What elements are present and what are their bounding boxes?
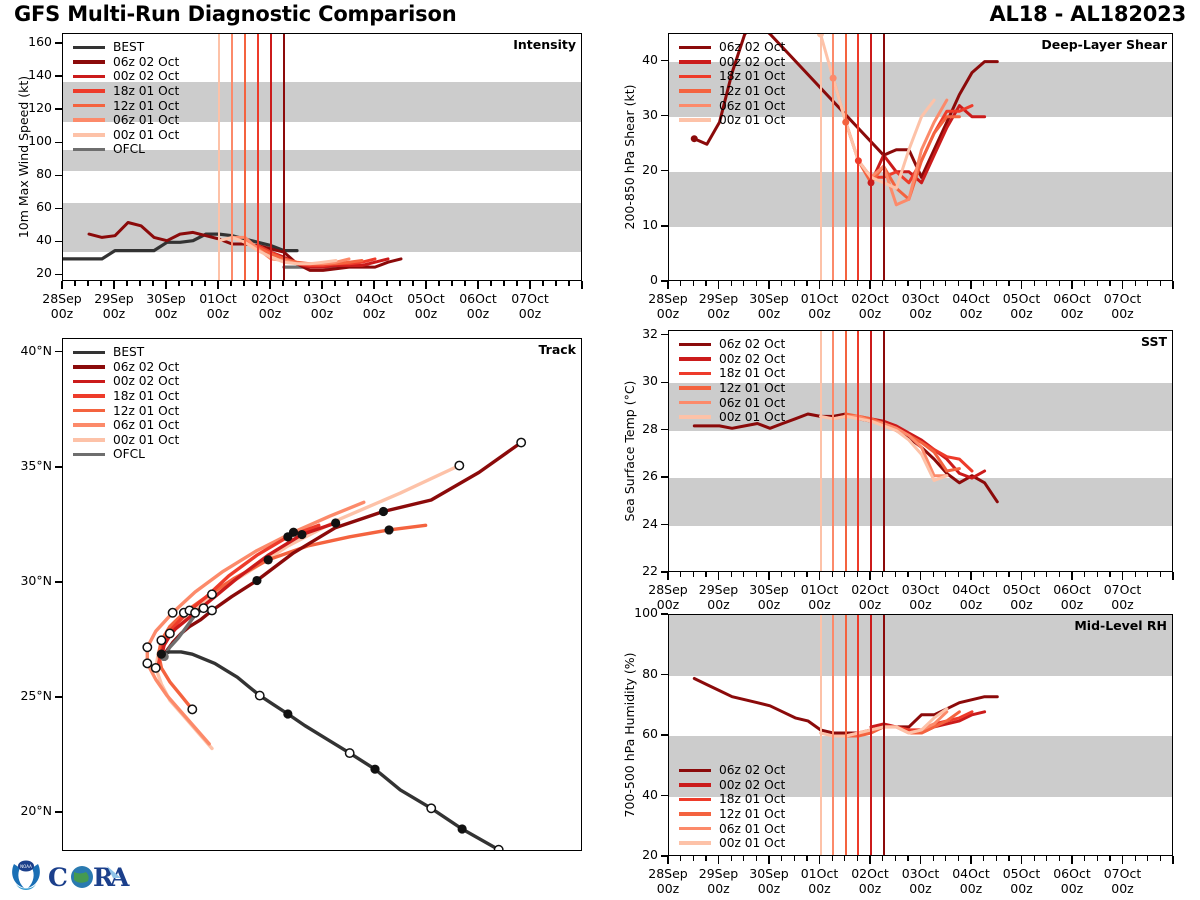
track-marker-filled xyxy=(379,507,388,516)
panel-intensity: BEST06z 02 Oct00z 02 Oct18z 01 Oct12z 01… xyxy=(62,33,582,281)
legend-row: 18z 01 Oct xyxy=(679,366,785,381)
y-tickmark xyxy=(661,382,668,383)
x-tickmark xyxy=(907,572,908,577)
legend-row: 00z 02 Oct xyxy=(679,55,785,70)
x-tickmark xyxy=(718,572,719,580)
legend-swatch-06z-01-oct xyxy=(679,827,711,831)
legend-swatch-06z-02-oct xyxy=(73,365,105,369)
x-tickmark xyxy=(1084,572,1085,577)
plot-title-rh: Mid-Level RH xyxy=(1074,618,1167,633)
init-line-06z-01-oct xyxy=(832,34,834,280)
x-tickmark xyxy=(1135,856,1136,861)
x-tickmark xyxy=(1109,281,1110,286)
x-tickmark xyxy=(1071,572,1072,580)
legend-row: 06z 02 Oct xyxy=(679,337,785,352)
init-line-18z-01-oct xyxy=(857,331,859,571)
legend-row: 06z 02 Oct xyxy=(679,763,785,778)
x-tickmark xyxy=(126,281,127,286)
x-tickmark xyxy=(347,281,348,286)
plot-title-intensity: Intensity xyxy=(513,37,576,52)
y-tickmark xyxy=(55,241,62,242)
legend-swatch-best xyxy=(73,46,105,50)
x-tickmark xyxy=(1008,572,1009,577)
x-tickmark xyxy=(1122,572,1123,580)
x-tickmark xyxy=(945,572,946,577)
legend-label: 12z 01 Oct xyxy=(719,807,785,821)
legend-row: 00z 02 Oct xyxy=(679,778,785,793)
x-tickmark xyxy=(1059,572,1060,577)
plot-title-sst: SST xyxy=(1141,334,1167,349)
track-marker-filled xyxy=(252,576,261,585)
x-tickmark xyxy=(680,856,681,861)
storm-id-title: AL18 - AL182023 xyxy=(989,2,1186,26)
plot-legend: BEST06z 02 Oct00z 02 Oct18z 01 Oct12z 01… xyxy=(73,345,179,462)
y-tick-label: 22 xyxy=(606,563,658,578)
legend-swatch-06z-01-oct xyxy=(73,118,105,122)
init-line-00z-02-oct xyxy=(870,615,872,855)
x-tickmark xyxy=(321,281,322,289)
noaa-cira-logo: NOAA C R A xyxy=(8,856,138,896)
plot-legend: 06z 02 Oct00z 02 Oct18z 01 Oct12z 01 Oct… xyxy=(679,763,785,851)
x-tickmark xyxy=(1059,856,1060,861)
y-axis-label: 700-500 hPa Humidity (%) xyxy=(622,652,637,817)
x-tick-day: 07Oct xyxy=(1083,292,1163,307)
x-tickmark xyxy=(781,281,782,286)
legend-swatch-00z-01-oct xyxy=(679,841,711,845)
y-tick-label: 32 xyxy=(606,326,658,341)
x-tickmark xyxy=(1147,281,1148,286)
legend-row: 12z 01 Oct xyxy=(679,381,785,396)
init-line-18z-01-oct xyxy=(857,615,859,855)
x-tickmark xyxy=(731,281,732,286)
y-tickmark xyxy=(661,795,668,796)
x-tickmark xyxy=(1097,856,1098,861)
y-tickmark xyxy=(55,175,62,176)
y-tickmark xyxy=(661,734,668,735)
legend-label: 06z 01 Oct xyxy=(113,113,179,127)
legend-label: 06z 01 Oct xyxy=(719,99,785,113)
x-tickmark xyxy=(983,856,984,861)
init-line-12z-01-oct xyxy=(244,34,246,280)
svg-text:C: C xyxy=(48,863,68,892)
legend-label: 12z 01 Oct xyxy=(113,404,179,418)
y-tick-label: 40°N xyxy=(0,343,52,358)
x-tickmark xyxy=(152,281,153,286)
x-tickmark xyxy=(542,281,543,286)
y-tick-label: 20°N xyxy=(0,803,52,818)
legend-swatch-06z-02-oct xyxy=(679,343,711,347)
legend-label: 00z 02 Oct xyxy=(719,778,785,792)
init-line-00z-02-oct xyxy=(270,34,272,280)
x-tickmark xyxy=(373,281,374,289)
x-tickmark xyxy=(806,281,807,286)
x-tickmark xyxy=(869,281,870,289)
x-tickmark xyxy=(667,281,668,289)
x-tickmark xyxy=(718,281,719,289)
init-line-00z-01-oct xyxy=(820,331,822,571)
x-tickmark xyxy=(996,572,997,577)
x-tickmark xyxy=(1172,856,1173,864)
x-tickmark xyxy=(794,281,795,286)
x-tickmark xyxy=(113,281,114,289)
y-tick-label: 40 xyxy=(606,52,658,67)
x-tickmark xyxy=(832,572,833,577)
x-tickmark xyxy=(1008,281,1009,286)
x-tickmark xyxy=(996,281,997,286)
y-tick-label: 35°N xyxy=(0,458,52,473)
init-line-06z-02-oct xyxy=(883,331,885,571)
legend-label: 06z 01 Oct xyxy=(719,822,785,836)
legend-label: 00z 01 Oct xyxy=(113,433,179,447)
x-tickmark xyxy=(1147,856,1148,861)
track-line-best xyxy=(161,652,498,850)
legend-label: 18z 01 Oct xyxy=(719,792,785,806)
legend-swatch-18z-01-oct xyxy=(73,394,105,398)
legend-row: 06z 01 Oct xyxy=(73,113,179,128)
legend-row: 00z 01 Oct xyxy=(73,128,179,143)
x-tickmark xyxy=(970,281,971,289)
legend-row: OFCL xyxy=(73,447,179,462)
x-tickmark xyxy=(756,281,757,286)
x-tickmark xyxy=(806,856,807,861)
x-tickmark xyxy=(832,856,833,861)
y-tickmark xyxy=(661,115,668,116)
x-tickmark xyxy=(882,281,883,286)
legend-row: 06z 01 Oct xyxy=(679,395,785,410)
x-tickmark xyxy=(1071,856,1072,864)
x-tickmark xyxy=(477,281,478,289)
x-tickmark xyxy=(334,281,335,286)
x-tickmark xyxy=(438,281,439,286)
x-tickmark xyxy=(1008,856,1009,861)
x-tickmark xyxy=(933,572,934,577)
x-tickmark xyxy=(895,281,896,286)
legend-label: 00z 02 Oct xyxy=(719,55,785,69)
x-tickmark xyxy=(794,572,795,577)
init-line-00z-01-oct xyxy=(820,34,822,280)
x-tickmark xyxy=(819,281,820,289)
track-marker-open xyxy=(143,659,151,667)
legend-label: BEST xyxy=(113,345,144,359)
legend-label: OFCL xyxy=(113,447,145,461)
legend-row: 00z 01 Oct xyxy=(73,433,179,448)
init-line-12z-01-oct xyxy=(845,34,847,280)
y-tickmark xyxy=(55,75,62,76)
y-tickmark xyxy=(661,524,668,525)
x-tickmark xyxy=(996,856,997,861)
x-tick-hour: 00z xyxy=(490,307,570,322)
x-tickmark xyxy=(718,856,719,864)
track-marker-filled xyxy=(283,709,292,718)
legend-swatch-06z-01-oct xyxy=(679,104,711,108)
y-tick-label: 30°N xyxy=(0,573,52,588)
x-tickmark xyxy=(983,572,984,577)
legend-swatch-18z-01-oct xyxy=(679,372,711,376)
legend-swatch-18z-01-oct xyxy=(73,89,105,93)
x-tickmark xyxy=(680,572,681,577)
x-tickmark xyxy=(243,281,244,286)
y-tickmark xyxy=(55,142,62,143)
legend-label: 12z 01 Oct xyxy=(719,381,785,395)
x-tickmark xyxy=(1046,856,1047,861)
y-tickmark xyxy=(661,170,668,171)
x-tickmark xyxy=(819,572,820,580)
y-tickmark xyxy=(661,334,668,335)
x-tick-hour: 00z xyxy=(1083,882,1163,897)
track-marker-filled xyxy=(384,525,393,534)
x-tickmark xyxy=(970,856,971,864)
x-tickmark xyxy=(806,572,807,577)
legend-swatch-12z-01-oct xyxy=(679,812,711,816)
legend-row: 06z 02 Oct xyxy=(73,360,179,375)
x-tickmark xyxy=(399,281,400,286)
y-tickmark xyxy=(55,466,62,467)
x-tickmark xyxy=(1135,572,1136,577)
legend-row: 06z 02 Oct xyxy=(73,55,179,70)
legend-label: OFCL xyxy=(113,142,145,156)
legend-label: 00z 02 Oct xyxy=(719,352,785,366)
legend-swatch-18z-01-oct xyxy=(679,798,711,802)
plot-frame-sst: 06z 02 Oct00z 02 Oct18z 01 Oct12z 01 Oct… xyxy=(668,330,1173,572)
y-tick-label: 20 xyxy=(0,265,52,280)
x-tickmark xyxy=(139,281,140,286)
legend-swatch-00z-02-oct xyxy=(73,75,105,79)
legend-swatch-12z-01-oct xyxy=(73,104,105,108)
init-line-00z-01-oct xyxy=(820,615,822,855)
init-line-06z-01-oct xyxy=(231,34,233,280)
plot-frame-track: BEST06z 02 Oct00z 02 Oct18z 01 Oct12z 01… xyxy=(62,338,582,851)
legend-swatch-06z-02-oct xyxy=(679,769,711,773)
legend-row: 12z 01 Oct xyxy=(73,403,179,418)
legend-swatch-06z-01-oct xyxy=(73,423,105,427)
init-line-12z-01-oct xyxy=(845,615,847,855)
init-line-18z-01-oct xyxy=(857,34,859,280)
legend-row: BEST xyxy=(73,345,179,360)
y-tickmark xyxy=(55,351,62,352)
legend-label: 00z 01 Oct xyxy=(719,836,785,850)
panel-shear: 06z 02 Oct00z 02 Oct18z 01 Oct12z 01 Oct… xyxy=(668,33,1173,281)
legend-row: OFCL xyxy=(73,142,179,157)
legend-row: 00z 02 Oct xyxy=(679,352,785,367)
x-tickmark xyxy=(1097,572,1098,577)
legend-label: 12z 01 Oct xyxy=(113,99,179,113)
x-tickmark xyxy=(844,281,845,286)
x-tickmark xyxy=(1122,856,1123,864)
legend-row: 06z 01 Oct xyxy=(73,418,179,433)
x-tickmark xyxy=(360,281,361,286)
x-tickmark xyxy=(308,281,309,286)
y-axis-label: 200-850 hPa Shear (kt) xyxy=(622,85,637,230)
plot-legend: 06z 02 Oct00z 02 Oct18z 01 Oct12z 01 Oct… xyxy=(679,40,785,128)
init-line-06z-02-oct xyxy=(283,34,285,280)
x-tick-day: 07Oct xyxy=(1083,867,1163,882)
track-marker-open xyxy=(152,664,160,672)
y-tick-label: 160 xyxy=(0,34,52,49)
x-tickmark xyxy=(844,856,845,861)
track-marker-open xyxy=(191,609,199,617)
x-tick-day: 07Oct xyxy=(490,292,570,307)
x-tickmark xyxy=(857,856,858,861)
y-tickmark xyxy=(661,674,668,675)
x-tickmark xyxy=(256,281,257,286)
legend-label: 06z 02 Oct xyxy=(719,40,785,54)
x-tickmark xyxy=(920,572,921,580)
x-tickmark xyxy=(920,856,921,864)
x-tickmark xyxy=(191,281,192,286)
plot-frame-rh: 06z 02 Oct00z 02 Oct18z 01 Oct12z 01 Oct… xyxy=(668,614,1173,856)
panel-rh: 06z 02 Oct00z 02 Oct18z 01 Oct12z 01 Oct… xyxy=(668,614,1173,856)
x-tickmark xyxy=(178,281,179,286)
legend-label: 06z 01 Oct xyxy=(719,396,785,410)
y-tickmark xyxy=(55,274,62,275)
init-line-00z-02-oct xyxy=(870,34,872,280)
init-line-06z-02-oct xyxy=(883,34,885,280)
x-tick-label: 07Oct00z xyxy=(490,292,570,322)
legend-swatch-00z-02-oct xyxy=(73,380,105,384)
x-tickmark xyxy=(705,281,706,286)
x-tickmark xyxy=(693,856,694,861)
legend-label: 00z 02 Oct xyxy=(113,69,179,83)
x-tickmark xyxy=(1071,281,1072,289)
legend-swatch-00z-01-oct xyxy=(679,118,711,122)
legend-row: 00z 01 Oct xyxy=(679,836,785,851)
x-tickmark xyxy=(667,572,668,580)
x-tickmark xyxy=(869,856,870,864)
x-tickmark xyxy=(282,281,283,286)
legend-label: 18z 01 Oct xyxy=(113,389,179,403)
legend-row: BEST xyxy=(73,40,179,55)
noaa-logo-icon: NOAA xyxy=(12,861,40,891)
x-tickmark xyxy=(945,856,946,861)
x-tickmark xyxy=(781,856,782,861)
x-tickmark xyxy=(743,856,744,861)
legend-row: 00z 01 Oct xyxy=(679,113,785,128)
legend-swatch-best xyxy=(73,351,105,355)
track-marker-filled xyxy=(370,765,379,774)
x-tickmark xyxy=(743,572,744,577)
legend-row: 18z 01 Oct xyxy=(679,792,785,807)
svg-text:NOAA: NOAA xyxy=(20,864,32,869)
series-marker xyxy=(691,135,698,142)
legend-row: 00z 02 Oct xyxy=(73,69,179,84)
y-tickmark xyxy=(55,811,62,812)
x-tick-label: 07Oct00z xyxy=(1083,292,1163,322)
track-marker-open xyxy=(168,609,176,617)
panel-sst: 06z 02 Oct00z 02 Oct18z 01 Oct12z 01 Oct… xyxy=(668,330,1173,572)
y-tickmark xyxy=(661,225,668,226)
track-marker-filled xyxy=(297,530,306,539)
x-tickmark xyxy=(920,281,921,289)
legend-swatch-00z-01-oct xyxy=(679,415,711,419)
track-marker-filled xyxy=(283,532,292,541)
diagnostic-figure: GFS Multi-Run Diagnostic Comparison AL18… xyxy=(0,0,1200,900)
legend-row: 00z 02 Oct xyxy=(73,374,179,389)
x-tickmark xyxy=(869,572,870,580)
x-tickmark xyxy=(1021,281,1022,289)
x-tickmark xyxy=(1160,856,1161,861)
page-title: GFS Multi-Run Diagnostic Comparison xyxy=(14,2,456,26)
legend-label: 00z 01 Oct xyxy=(719,410,785,424)
x-tick-day: 07Oct xyxy=(1083,583,1163,598)
x-tick-label: 07Oct00z xyxy=(1083,583,1163,613)
init-line-06z-01-oct xyxy=(832,615,834,855)
x-tickmark xyxy=(768,281,769,289)
init-line-06z-02-oct xyxy=(883,615,885,855)
legend-swatch-00z-02-oct xyxy=(679,783,711,787)
init-line-00z-02-oct xyxy=(870,331,872,571)
series-line-12z-01-oct xyxy=(846,414,960,471)
plot-title-shear: Deep-Layer Shear xyxy=(1041,37,1167,52)
x-tickmark xyxy=(756,856,757,861)
x-tickmark xyxy=(1109,572,1110,577)
x-tickmark xyxy=(165,281,166,289)
x-tickmark xyxy=(768,572,769,580)
y-tickmark xyxy=(55,42,62,43)
x-tickmark xyxy=(61,281,62,289)
legend-label: 18z 01 Oct xyxy=(719,69,785,83)
legend-label: 06z 02 Oct xyxy=(719,763,785,777)
x-tickmark xyxy=(970,572,971,580)
track-marker-open xyxy=(208,590,216,598)
track-marker-open xyxy=(166,629,174,637)
x-tickmark xyxy=(1084,856,1085,861)
track-marker-open xyxy=(256,691,264,699)
track-marker-open xyxy=(208,606,216,614)
y-tickmark xyxy=(661,429,668,430)
x-tickmark xyxy=(1021,572,1022,580)
x-tickmark xyxy=(1084,281,1085,286)
legend-swatch-12z-01-oct xyxy=(679,386,711,390)
x-tickmark xyxy=(731,572,732,577)
x-tickmark xyxy=(1172,281,1173,289)
x-tickmark xyxy=(743,281,744,286)
x-tickmark xyxy=(490,281,491,286)
legend-swatch-12z-01-oct xyxy=(73,409,105,413)
x-tickmark xyxy=(464,281,465,286)
track-marker-open xyxy=(157,636,165,644)
legend-row: 06z 02 Oct xyxy=(679,40,785,55)
legend-swatch-06z-02-oct xyxy=(73,60,105,64)
x-tickmark xyxy=(425,281,426,289)
track-marker-open xyxy=(188,705,196,713)
plot-frame-shear: 06z 02 Oct00z 02 Oct18z 01 Oct12z 01 Oct… xyxy=(668,33,1173,281)
x-tickmark xyxy=(768,856,769,864)
x-tickmark xyxy=(693,572,694,577)
x-tickmark xyxy=(451,281,452,286)
y-tickmark xyxy=(661,60,668,61)
legend-label: 18z 01 Oct xyxy=(113,84,179,98)
y-tickmark xyxy=(661,476,668,477)
x-tickmark xyxy=(857,281,858,286)
init-line-18z-01-oct xyxy=(257,34,259,280)
x-tick-hour: 00z xyxy=(1083,598,1163,613)
x-tickmark xyxy=(693,281,694,286)
track-marker-open xyxy=(455,461,463,469)
track-marker-open xyxy=(427,804,435,812)
x-tickmark xyxy=(1160,281,1161,286)
y-tick-label: 20 xyxy=(606,847,658,862)
x-tickmark xyxy=(844,572,845,577)
legend-row: 00z 01 Oct xyxy=(679,410,785,425)
x-tickmark xyxy=(1109,856,1110,861)
legend-label: 06z 02 Oct xyxy=(113,360,179,374)
y-tick-label: 100 xyxy=(606,605,658,620)
legend-swatch-00z-02-oct xyxy=(679,60,711,64)
y-axis-label: Sea Surface Temp (°C) xyxy=(622,381,637,522)
x-tickmark xyxy=(667,856,668,864)
legend-row: 18z 01 Oct xyxy=(73,84,179,99)
legend-swatch-ofcl xyxy=(73,453,105,457)
